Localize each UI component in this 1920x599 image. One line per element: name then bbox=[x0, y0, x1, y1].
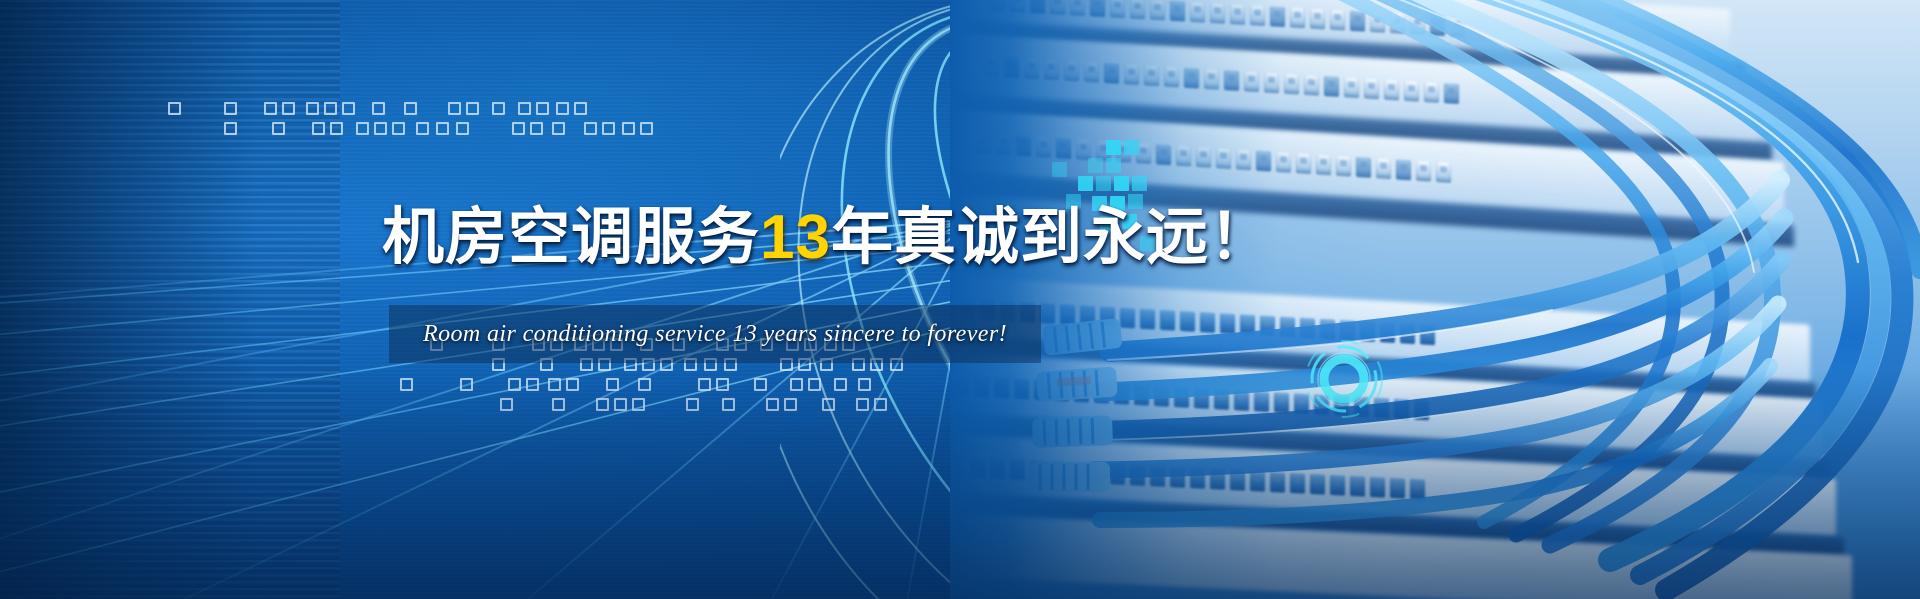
pixel-square-pattern-top bbox=[160, 100, 580, 140]
hero-banner: 机房空调服务13年真诚到永远！ Room air conditioning se… bbox=[0, 0, 1920, 599]
page-title: 机房空调服务13年真诚到永远！ bbox=[382, 207, 1272, 269]
headline-prefix: 机房空调服务 bbox=[382, 203, 760, 272]
subtitle: Room air conditioning service 13 years s… bbox=[389, 305, 1041, 363]
headline-suffix: 年真诚到永远！ bbox=[831, 203, 1272, 272]
headline-years-number: 13 bbox=[760, 203, 831, 272]
background-bottom-vignette bbox=[0, 369, 1920, 599]
